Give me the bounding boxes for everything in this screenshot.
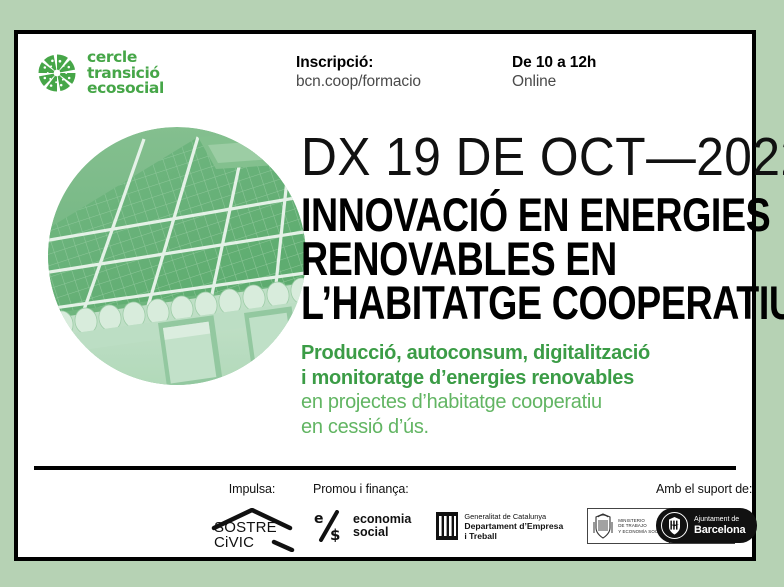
economia-percent-icon: e $ [313, 510, 347, 542]
barcelona-shield-icon [661, 512, 688, 539]
title-line-2: RENOVABLES EN [301, 237, 742, 281]
registration-block: Inscripció: bcn.coop/formacio [296, 53, 421, 91]
sostre-line-1: SOSTRE [214, 520, 277, 535]
poster-card: cercle transició ecosocial Inscripció: b… [14, 30, 756, 561]
ajuntament-barcelona-logo: Ajuntament de Barcelona [656, 508, 757, 543]
event-date: DX 19 DE OCT—2022 [301, 130, 707, 184]
economia-social-logo: e $ economia social [313, 510, 411, 542]
brand-line-3: ecosocial [87, 81, 164, 97]
spain-coat-of-arms-icon [592, 513, 614, 539]
economia-social-text: economia social [353, 513, 411, 540]
generalitat-line-2: Departament d’Empresa [464, 521, 563, 531]
ajuntament-line-2: Barcelona [694, 524, 745, 536]
generalitat-logo: Generalitat de Catalunya Departament d’E… [435, 511, 563, 541]
footer-group-impulsa: Impulsa: SOSTRE CiVIC [206, 482, 298, 552]
registration-url[interactable]: bcn.coop/formacio [296, 72, 421, 91]
subtitle-light-line-2: en cessió d’ús. [301, 415, 742, 440]
sostre-line-2: CiVIC [214, 535, 277, 550]
poster-footer: Impulsa: SOSTRE CiVIC Promou i finança: [18, 474, 752, 562]
title-line-3: L’HABITATGE COOPERATIU [301, 281, 742, 325]
subtitle-light-line-1: en projectes d’habitatge cooperatiu [301, 390, 742, 415]
event-subtitle: Producció, autoconsum, digitalització i … [301, 341, 742, 439]
economia-line-2: social [353, 526, 411, 540]
footer-divider [34, 466, 736, 470]
economia-line-1: economia [353, 513, 411, 527]
footer-group-suport: Amb el suport de: [656, 482, 757, 543]
schedule-block: De 10 a 12h Online [512, 53, 596, 91]
ajuntament-text: Ajuntament de Barcelona [694, 515, 745, 536]
impulsa-label: Impulsa: [206, 482, 298, 496]
title-line-1: INNOVACIÓ EN ENERGIES [301, 193, 742, 237]
brand-logo-text: cercle transició ecosocial [87, 50, 164, 97]
subtitle-bold-line-2: i monitoratge d’energies renovables [301, 366, 742, 391]
ajuntament-line-1: Ajuntament de [694, 515, 745, 524]
generalitat-line-1: Generalitat de Catalunya [464, 512, 563, 521]
event-title: INNOVACIÓ EN ENERGIES RENOVABLES EN L’HA… [301, 193, 742, 325]
svg-text:$: $ [330, 526, 340, 542]
registration-label: Inscripció: [296, 53, 421, 72]
svg-text:e: e [314, 511, 324, 527]
sostre-civic-logo: SOSTRE CiVIC [206, 508, 298, 552]
solar-panel-photo [48, 127, 306, 385]
generalitat-text: Generalitat de Catalunya Departament d’E… [464, 512, 563, 541]
generalitat-shield-icon [435, 511, 459, 541]
schedule-mode: Online [512, 72, 596, 91]
poster-header: cercle transició ecosocial Inscripció: b… [18, 34, 752, 112]
brand-logo: cercle transició ecosocial [36, 50, 164, 97]
cercle-pinwheel-icon [36, 52, 78, 94]
sostre-civic-text: SOSTRE CiVIC [214, 520, 277, 550]
suport-label: Amb el suport de: [656, 482, 757, 496]
generalitat-line-3: i Treball [464, 531, 563, 541]
main-text-block: DX 19 DE OCT—2022 INNOVACIÓ EN ENERGIES … [301, 130, 742, 439]
subtitle-bold-line-1: Producció, autoconsum, digitalització [301, 341, 742, 366]
schedule-time: De 10 a 12h [512, 53, 596, 72]
